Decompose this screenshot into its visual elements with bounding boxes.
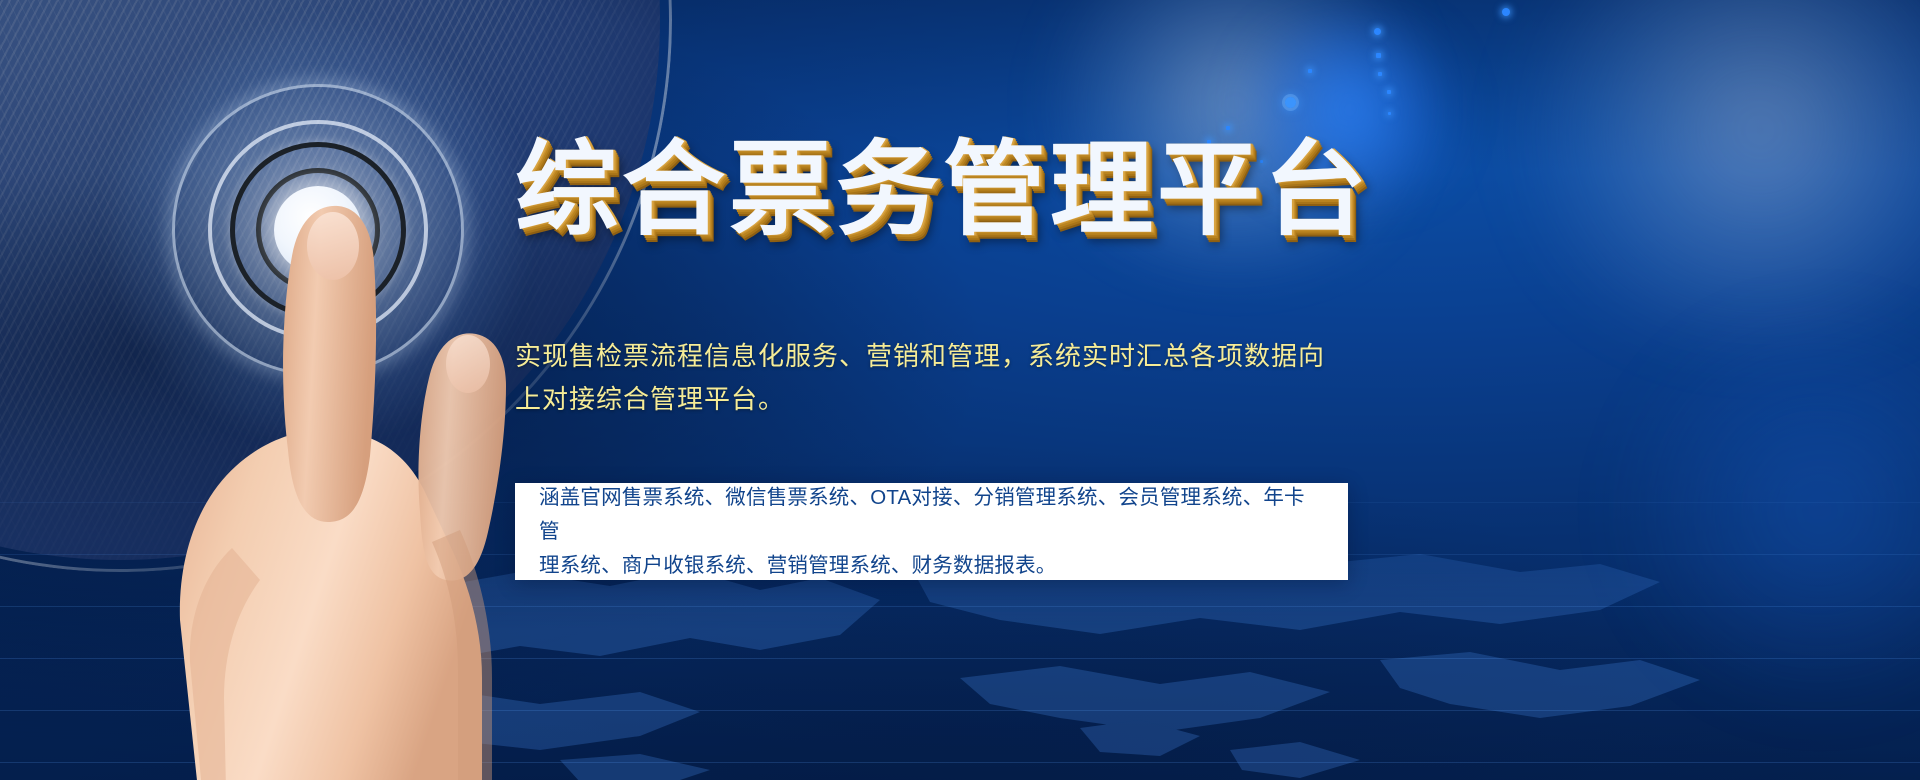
- page-title: 综合票务管理平台: [515, 134, 1375, 245]
- bokeh-dot: [1502, 8, 1510, 16]
- info-box-line: 涵盖官网售票系统、微信售票系统、OTA对接、分销管理系统、会员管理系统、年卡管: [539, 481, 1324, 549]
- bokeh-dot: [1374, 28, 1381, 35]
- bokeh-dot: [1376, 53, 1381, 58]
- text-content-block: 综合票务管理平台 实现售检票流程信息化服务、营销和管理，系统实时汇总各项数据向 …: [515, 0, 1375, 780]
- bokeh-dot: [1388, 112, 1391, 115]
- subtitle-line: 上对接综合管理平台。: [515, 379, 1365, 422]
- info-box-text: 涵盖官网售票系统、微信售票系统、OTA对接、分销管理系统、会员管理系统、年卡管 …: [515, 481, 1348, 583]
- info-box: 涵盖官网售票系统、微信售票系统、OTA对接、分销管理系统、会员管理系统、年卡管 …: [515, 483, 1348, 580]
- bokeh-dot: [1378, 72, 1382, 76]
- subtitle-line: 实现售检票流程信息化服务、营销和管理，系统实时汇总各项数据向: [515, 336, 1365, 379]
- hero-banner: 综合票务管理平台 实现售检票流程信息化服务、营销和管理，系统实时汇总各项数据向 …: [0, 0, 1920, 780]
- bokeh-dot: [1387, 90, 1391, 94]
- info-box-line: 理系统、商户收银系统、营销管理系统、财务数据报表。: [539, 549, 1324, 583]
- subtitle: 实现售检票流程信息化服务、营销和管理，系统实时汇总各项数据向 上对接综合管理平台…: [515, 336, 1365, 422]
